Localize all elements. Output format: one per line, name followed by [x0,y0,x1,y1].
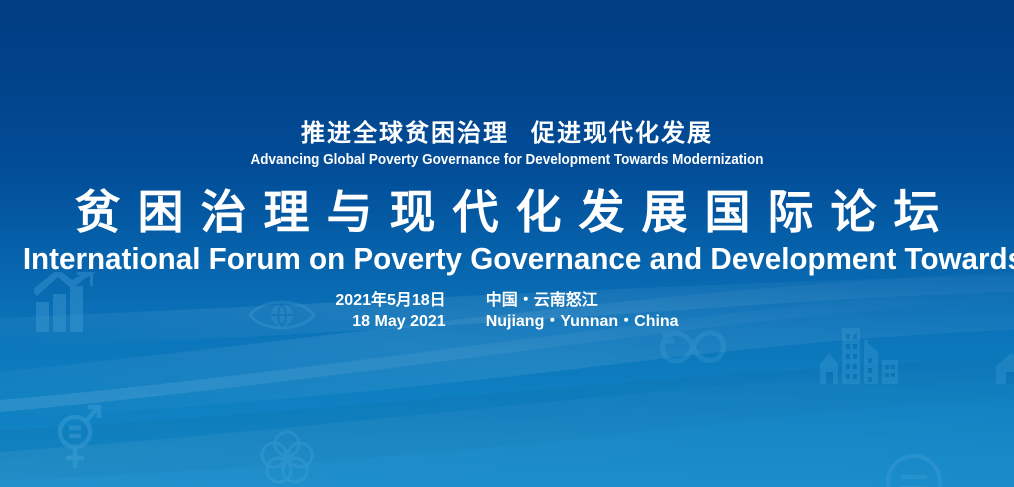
event-meta-row: 2021年5月18日 18 May 2021 中国・云南怒江 Nujiang・Y… [0,290,1014,332]
kicker-chinese-part2: 促进现代化发展 [531,120,713,147]
event-location-chinese: 中国・云南怒江 [486,290,679,311]
event-date-chinese: 2021年5月18日 [335,290,445,311]
kicker-chinese-part1: 推进全球贫困治理 [301,120,509,147]
event-date: 2021年5月18日 18 May 2021 [335,290,445,332]
event-location: 中国・云南怒江 Nujiang・Yunnan・China [486,290,679,332]
title-chinese: 贫困治理与现代化发展国际论坛 [0,185,1014,239]
title-english: International Forum on Poverty Governanc… [23,240,991,278]
kicker-chinese: 推进全球贫困治理促进现代化发展 [0,122,1014,146]
kicker-english: Advancing Global Poverty Governance for … [35,153,978,168]
forum-banner: 推进全球贫困治理促进现代化发展 Advancing Global Poverty… [0,0,1014,487]
event-location-english: Nujiang・Yunnan・China [486,311,679,332]
banner-content: 推进全球贫困治理促进现代化发展 Advancing Global Poverty… [0,0,1014,487]
event-date-english: 18 May 2021 [335,311,445,332]
